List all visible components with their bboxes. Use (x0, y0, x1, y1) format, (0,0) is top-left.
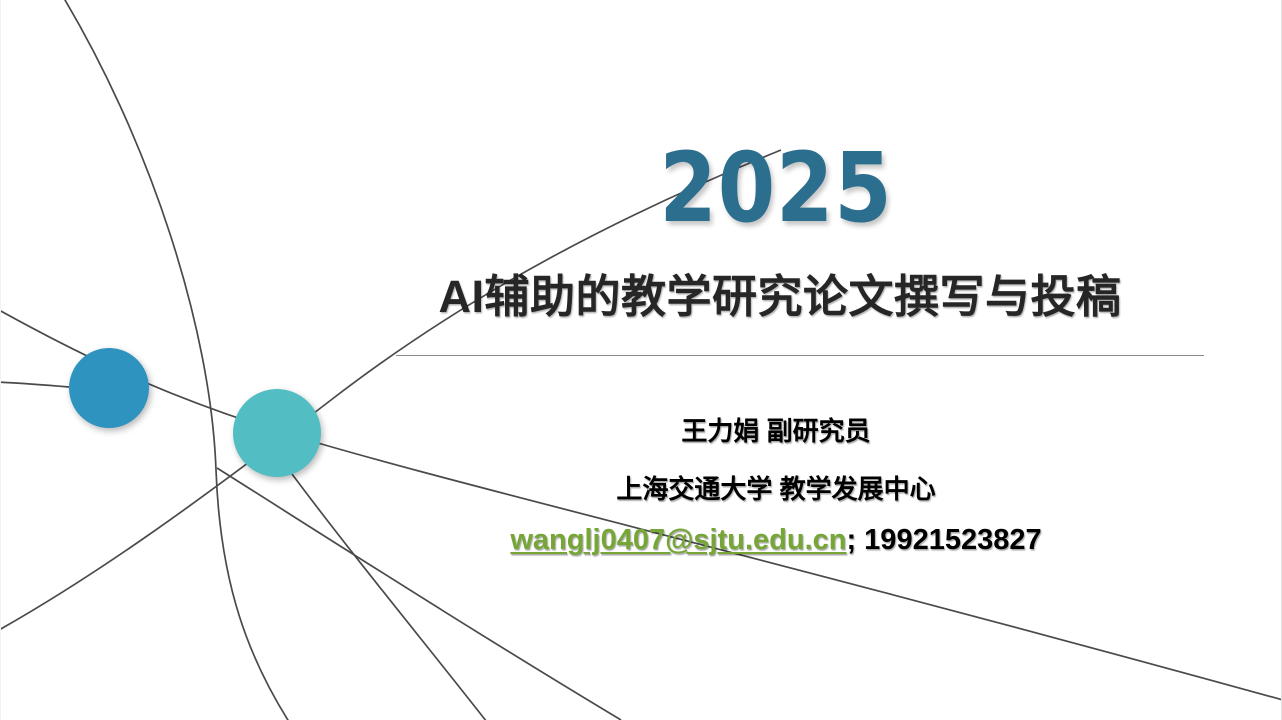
arc-path-6 (1, 382, 69, 387)
decorative-circle-blue (69, 348, 149, 428)
year-heading: 2025 (402, 140, 1150, 236)
affiliation: 上海交通大学 教学发展中心 (341, 469, 1211, 506)
title-divider (396, 355, 1204, 356)
presenter-name: 王力娟 副研究员 (341, 411, 1211, 448)
contact-line: wanglj0407@sjtu.edu.cn; 19921523827 (341, 524, 1211, 557)
decorative-circle-teal (233, 389, 321, 477)
page-title: AI辅助的教学研究论文撰写与投稿 (349, 272, 1211, 322)
title-slide: 2025 AI辅助的教学研究论文撰写与投稿 王力娟 副研究员 上海交通大学 教学… (0, 0, 1282, 720)
slide-content: 2025 AI辅助的教学研究论文撰写与投稿 王力娟 副研究员 上海交通大学 教学… (341, 0, 1221, 720)
phone-number: ; 19921523827 (846, 524, 1041, 556)
email-link[interactable]: wanglj0407@sjtu.edu.cn (510, 524, 846, 556)
